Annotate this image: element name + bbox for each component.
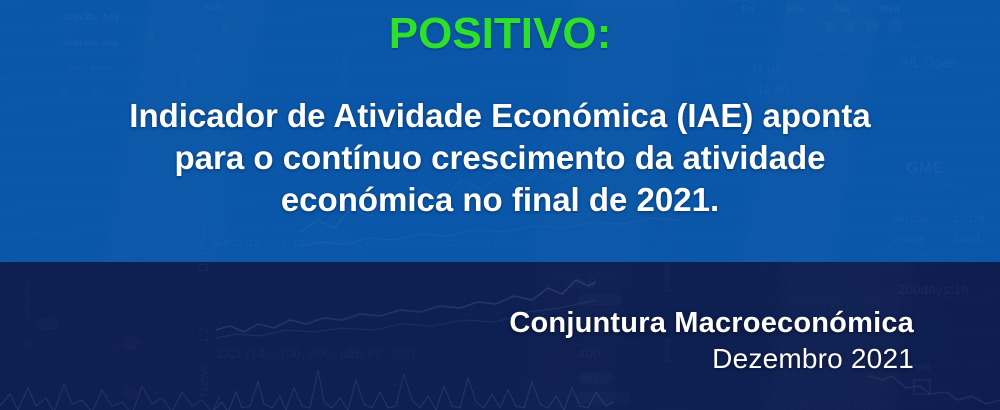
publication-meta: Conjuntura Macroeconómica Dezembro 2021	[509, 305, 914, 377]
series-title: Conjuntura Macroeconómica	[509, 305, 914, 341]
headline: Indicador de Atividade Económica (IAE) a…	[0, 95, 1000, 221]
banner-content: POSITIVO: Indicador de Atividade Económi…	[0, 0, 1000, 410]
headline-line-3: económica no final de 2021.	[12, 179, 988, 221]
issue-date: Dezembro 2021	[509, 341, 914, 377]
headline-line-1: Indicador de Atividade Económica (IAE) a…	[12, 95, 988, 137]
headline-line-2: para o contínuo crescimento da atividade	[12, 137, 988, 179]
kicker-positivo: POSITIVO:	[0, 12, 1000, 56]
news-banner: Join the Ask Join the Bid auto send 0 0 …	[0, 0, 1000, 410]
